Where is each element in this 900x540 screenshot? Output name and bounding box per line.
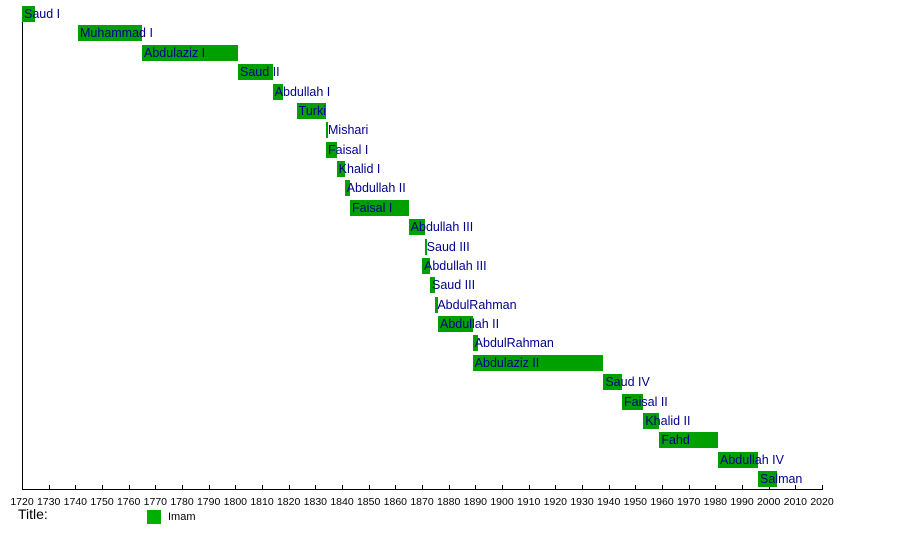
task-label: Saud III (427, 239, 470, 255)
x-axis-tick-mark (529, 485, 530, 490)
plot-area: 1720173017401750176017701780179018001810… (0, 0, 900, 492)
x-axis-tick-mark (289, 485, 290, 490)
x-axis-tick-mark (235, 485, 236, 490)
x-axis-tick-mark (342, 485, 343, 490)
task-label: Muhammad I (80, 25, 153, 41)
x-axis-tick-mark (635, 485, 636, 490)
x-axis-tick-mark (662, 485, 663, 490)
task-label: AbdulRahman (437, 297, 516, 313)
legend-entry-label: Imam (168, 510, 196, 524)
task-label: Saud IV (605, 374, 649, 390)
task-label: Salman (760, 471, 802, 487)
x-axis-tick-mark (609, 485, 610, 490)
task-label: Abdullah III (411, 219, 474, 235)
task-label: Abdullah II (347, 180, 406, 196)
x-axis-tick-mark (715, 485, 716, 490)
x-axis-tick-mark (315, 485, 316, 490)
x-axis-tick-mark (555, 485, 556, 490)
task-label: Faisal II (624, 394, 668, 410)
x-axis-tick-mark (502, 485, 503, 490)
x-axis-tick-mark (822, 485, 823, 490)
x-axis-tick-mark (449, 485, 450, 490)
x-axis-tick-mark (182, 485, 183, 490)
chart-legend: Title: Imam (0, 492, 900, 540)
x-axis-tick-mark (422, 485, 423, 490)
task-label: Abdullah IV (720, 452, 784, 468)
x-axis-tick-mark (155, 485, 156, 490)
x-axis-tick-mark (369, 485, 370, 490)
task-label: Saud III (432, 277, 475, 293)
x-axis-tick-mark (49, 485, 50, 490)
x-axis-tick-mark (475, 485, 476, 490)
gantt-timeline-chart: 1720173017401750176017701780179018001810… (0, 0, 900, 540)
task-label: Faisal I (352, 200, 392, 216)
x-axis-tick-mark (209, 485, 210, 490)
task-label: Saud I (24, 6, 60, 22)
x-axis-tick-mark (395, 485, 396, 490)
task-label: Abdulaziz II (475, 355, 540, 371)
task-label: Fahd (661, 432, 690, 448)
legend-title-label: Title: (18, 506, 48, 522)
x-axis-tick-mark (75, 485, 76, 490)
task-label: Abdullah I (275, 84, 331, 100)
x-axis-tick-mark (742, 485, 743, 490)
task-label: Abdullah II (440, 316, 499, 332)
task-label: Abdulaziz I (144, 45, 205, 61)
task-label: Khalid II (645, 413, 690, 429)
x-axis-tick-mark (22, 485, 23, 490)
task-label: Turki (299, 103, 326, 119)
x-axis-tick-mark (102, 485, 103, 490)
x-axis-tick-mark (582, 485, 583, 490)
legend-color-swatch (147, 510, 161, 524)
task-label: AbdulRahman (475, 335, 554, 351)
x-axis-tick-mark (262, 485, 263, 490)
x-axis-tick-mark (689, 485, 690, 490)
task-label: Saud II (240, 64, 280, 80)
y-axis-line (22, 6, 23, 490)
task-label: Mishari (328, 122, 368, 138)
x-axis-tick-mark (129, 485, 130, 490)
task-label: Khalid I (339, 161, 381, 177)
task-label: Abdullah III (424, 258, 487, 274)
task-label: Faisal I (328, 142, 368, 158)
